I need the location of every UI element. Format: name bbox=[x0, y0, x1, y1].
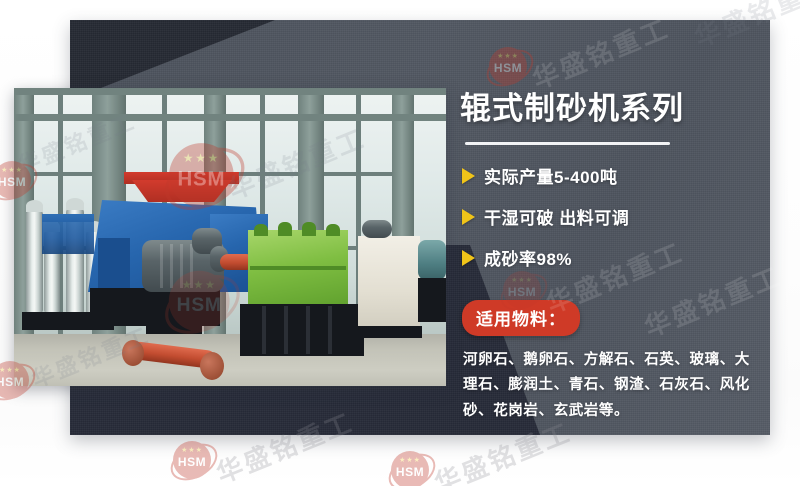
materials-list: 河卵石、鹅卵石、方解石、石英、玻璃、大理石、膨润土、青石、钢渣、石灰石、风化砂、… bbox=[463, 348, 751, 424]
feature-label-1: 实际产量5-400吨 bbox=[484, 163, 617, 188]
product-photo: ★★★ HSM 华盛铭重工 华盛铭重工 ★★★ HSM 华盛铭重工 bbox=[14, 88, 446, 386]
title-divider bbox=[465, 142, 670, 145]
feature-label-3: 成砂率98% bbox=[484, 245, 572, 270]
materials-badge: 适用物料： bbox=[462, 300, 580, 336]
photo-floor bbox=[14, 334, 446, 386]
feature-label-2: 干湿可破 出料可调 bbox=[484, 204, 629, 229]
product-info: 辊式制砂机系列 实际产量5-400吨 干湿可破 出料可调 成砂率98% 适用物料… bbox=[460, 30, 760, 424]
poster-canvas: ★★★ HSM 华盛铭重工 华盛铭重工 ★★★ HSM 华盛铭重工 辊式制砂机系… bbox=[0, 0, 800, 486]
product-title: 辊式制砂机系列 bbox=[460, 92, 760, 126]
photo-control-cabinet bbox=[358, 236, 420, 328]
feature-item-1: 实际产量5-400吨 bbox=[462, 163, 760, 188]
arrow-right-icon bbox=[462, 209, 475, 225]
arrow-right-icon bbox=[462, 168, 475, 184]
arrow-right-icon bbox=[462, 250, 475, 266]
feature-item-2: 干湿可破 出料可调 bbox=[462, 204, 760, 229]
feature-item-3: 成砂率98% bbox=[462, 245, 760, 270]
